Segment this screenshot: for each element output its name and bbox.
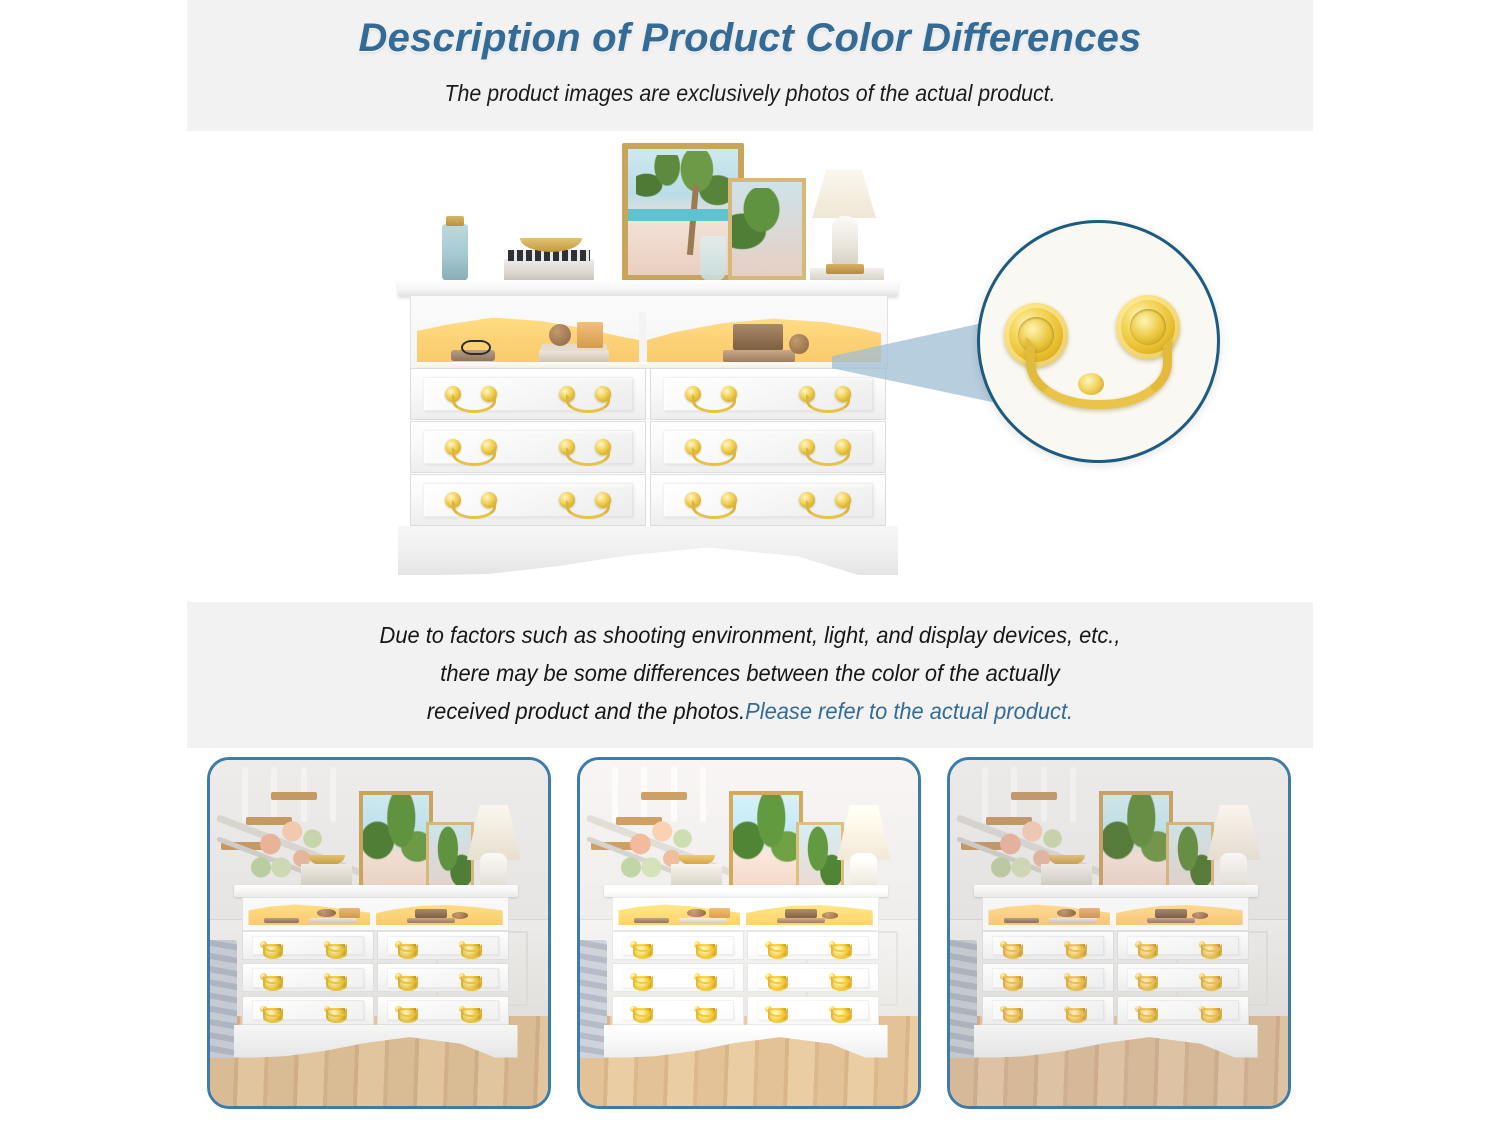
shelf-sphere-icon	[549, 324, 571, 346]
drawer-row3-right[interactable]	[377, 996, 509, 1025]
drawer-handle-icon[interactable]	[765, 1006, 787, 1015]
drawer-handle-icon[interactable]	[694, 941, 716, 950]
drawer-handle-icon[interactable]	[260, 973, 282, 982]
drawer-handle-icon[interactable]	[1199, 1006, 1221, 1015]
drawer-row2-left[interactable]	[242, 963, 374, 992]
drawer-row2-right[interactable]	[1117, 963, 1249, 992]
drawer-handle-icon[interactable]	[799, 386, 851, 406]
handle-closeup-icon	[998, 295, 1198, 405]
shelf-divider	[639, 312, 646, 368]
drawer-handle-icon[interactable]	[445, 439, 497, 459]
product-dresser	[398, 280, 898, 575]
drawer-grid	[410, 368, 886, 526]
note-line-2: there may be some differences between th…	[215, 662, 1285, 685]
drawer-handle-icon[interactable]	[630, 1006, 652, 1015]
page-subtitle: The product images are exclusively photo…	[226, 80, 1273, 107]
drawer-handle-icon[interactable]	[1199, 973, 1221, 982]
drawer-handle-icon[interactable]	[1135, 1006, 1157, 1015]
drawer-handle-icon[interactable]	[1000, 941, 1022, 950]
drawer-row2-left[interactable]	[410, 421, 646, 473]
drawer-grid	[982, 931, 1249, 1024]
drawer-handle-icon[interactable]	[685, 439, 737, 459]
handle-bail-icon	[1026, 337, 1172, 409]
drawer-handle-icon[interactable]	[260, 941, 282, 950]
drawer-row1-right[interactable]	[650, 368, 886, 420]
small-palm-frame-icon	[728, 178, 806, 280]
drawer-row2-left[interactable]	[612, 963, 744, 992]
lamp-base-icon	[826, 264, 864, 274]
drawer-handle-icon[interactable]	[1064, 973, 1086, 982]
led-open-shelf	[410, 296, 888, 369]
thumbnail-gallery	[207, 757, 1307, 1111]
shelf-sphere2-icon	[789, 334, 809, 354]
infographic-page: Description of Product Color Differences…	[0, 0, 1500, 1125]
dresser-top-decor	[398, 138, 898, 281]
lamp-body-icon	[832, 216, 858, 266]
drawer-handle-icon[interactable]	[395, 973, 417, 982]
shelf-book-eatdrinknap-icon	[723, 350, 795, 362]
drawer-handle-icon[interactable]	[630, 941, 652, 950]
drawer-row1-left[interactable]	[612, 931, 744, 960]
drawer-handle-icon[interactable]	[1135, 973, 1157, 982]
throw-blanket-icon	[947, 940, 977, 1058]
drawer-handle-icon[interactable]	[459, 973, 481, 982]
led-open-shelf	[982, 897, 1249, 932]
magnifier-callout-circle	[977, 220, 1220, 463]
header-band: Description of Product Color Differences…	[187, 0, 1313, 131]
drawer-handle-icon[interactable]	[694, 1006, 716, 1015]
note-line-3-plain: received product and the photos.	[427, 698, 745, 724]
drawer-row1-right[interactable]	[747, 931, 879, 960]
drawer-handle-icon[interactable]	[324, 973, 346, 982]
drawer-grid	[242, 931, 509, 1024]
drawer-row1-right[interactable]	[1117, 931, 1249, 960]
dresser-base-plinth	[234, 1025, 518, 1058]
lamp-shade-icon	[812, 170, 876, 218]
drawer-row1-left[interactable]	[410, 368, 646, 420]
drawer-handle-icon[interactable]	[1199, 941, 1221, 950]
drawer-handle-icon[interactable]	[1000, 1006, 1022, 1015]
drawer-row2-right[interactable]	[377, 963, 509, 992]
dresser-top-surface	[234, 885, 518, 897]
note-line-1: Due to factors such as shooting environm…	[215, 624, 1285, 647]
vase-neck-icon	[446, 216, 464, 226]
drawer-row3-right[interactable]	[650, 474, 886, 526]
drawer-handle-icon[interactable]	[459, 1006, 481, 1015]
drawer-handle-icon[interactable]	[694, 973, 716, 982]
drawer-row3-left[interactable]	[982, 996, 1114, 1025]
drawer-handle-icon[interactable]	[559, 439, 611, 459]
drawer-handle-icon[interactable]	[1000, 973, 1022, 982]
drawer-row3-left[interactable]	[242, 996, 374, 1025]
dresser-base-plinth	[398, 526, 898, 575]
drawer-handle-icon[interactable]	[1064, 941, 1086, 950]
drawer-handle-icon[interactable]	[395, 1006, 417, 1015]
drawer-handle-icon[interactable]	[1064, 1006, 1086, 1015]
drawer-handle-icon[interactable]	[829, 941, 851, 950]
drawer-row3-left[interactable]	[410, 474, 646, 526]
thumbnail-dresser	[974, 885, 1258, 1058]
shelf-glasses-icon	[461, 340, 491, 355]
drawer-row1-left[interactable]	[242, 931, 374, 960]
drawer-handle-icon[interactable]	[685, 386, 737, 406]
drawer-handle-icon[interactable]	[559, 386, 611, 406]
drawer-handle-icon[interactable]	[829, 1006, 851, 1015]
handle-bail-center-icon	[1078, 373, 1104, 395]
glass-vase-icon	[700, 236, 726, 281]
thumbnail-1[interactable]	[207, 757, 551, 1109]
throw-blanket-icon	[207, 940, 237, 1058]
page-title: Description of Product Color Differences	[187, 16, 1313, 61]
led-open-shelf	[242, 897, 509, 932]
note-band: Due to factors such as shooting environm…	[187, 602, 1313, 748]
drawer-handle-icon[interactable]	[799, 439, 851, 459]
drawer-row3-right[interactable]	[747, 996, 879, 1025]
drawer-handle-icon[interactable]	[395, 941, 417, 950]
throw-blanket-icon	[577, 940, 607, 1058]
drawer-handle-icon[interactable]	[829, 973, 851, 982]
thumbnail-2[interactable]	[577, 757, 921, 1109]
note-line-3-accent: Please refer to the actual product.	[745, 698, 1073, 724]
drawer-row2-left[interactable]	[982, 963, 1114, 992]
thumbnail-3[interactable]	[947, 757, 1291, 1109]
drawer-handle-icon[interactable]	[765, 941, 787, 950]
shelf-box-icon	[733, 324, 783, 350]
thumbnail-dresser	[604, 885, 888, 1058]
drawer-handle-icon[interactable]	[459, 941, 481, 950]
drawer-handle-icon[interactable]	[799, 492, 851, 512]
drawer-handle-icon[interactable]	[559, 492, 611, 512]
drawer-handle-icon[interactable]	[1135, 941, 1157, 950]
drawer-row1-right[interactable]	[377, 931, 509, 960]
drawer-handle-icon[interactable]	[324, 1006, 346, 1015]
drawer-grid	[612, 931, 879, 1024]
drawer-row3-left[interactable]	[612, 996, 744, 1025]
thumbnail-dresser	[234, 885, 518, 1058]
drawer-handle-icon[interactable]	[324, 941, 346, 950]
hero-product-scene	[187, 131, 1313, 602]
led-open-shelf	[612, 897, 879, 932]
book-stack-icon	[504, 259, 594, 281]
teal-vase-icon	[442, 224, 468, 281]
shelf-amber-vase-icon	[577, 322, 603, 348]
drawer-handle-icon[interactable]	[630, 973, 652, 982]
note-line-3: received product and the photos.Please r…	[215, 700, 1285, 723]
drawer-row2-right[interactable]	[747, 963, 879, 992]
drawer-handle-icon[interactable]	[445, 492, 497, 512]
drawer-handle-icon[interactable]	[765, 973, 787, 982]
drawer-row3-right[interactable]	[1117, 996, 1249, 1025]
drawer-handle-icon[interactable]	[445, 386, 497, 406]
dresser-top-surface	[398, 280, 898, 296]
drawer-row1-left[interactable]	[982, 931, 1114, 960]
drawer-handle-icon[interactable]	[685, 492, 737, 512]
drawer-row2-right[interactable]	[650, 421, 886, 473]
shelf-book-london-icon	[539, 350, 609, 362]
drawer-handle-icon[interactable]	[260, 1006, 282, 1015]
